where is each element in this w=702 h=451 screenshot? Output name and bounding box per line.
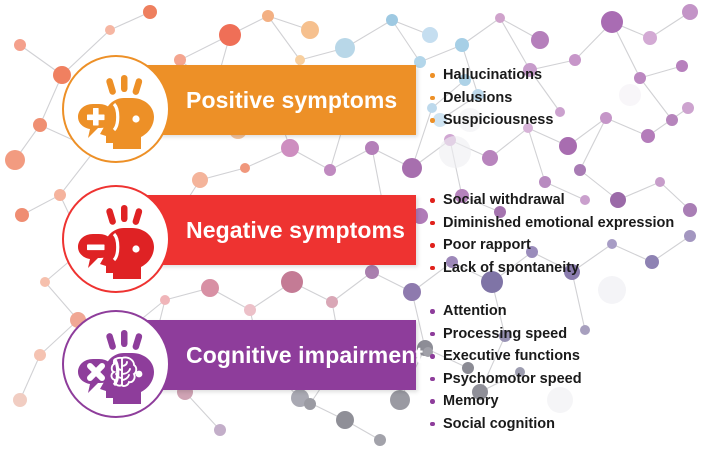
- icon-medallion-negative[interactable]: [62, 185, 170, 293]
- list-item: Social withdrawal: [430, 189, 674, 212]
- head-minus-speech-bubble-icon: [64, 187, 172, 295]
- list-item: Hallucinations: [430, 64, 553, 87]
- category-row-cognitive: Cognitive impairment: [0, 310, 702, 420]
- icon-medallion-positive[interactable]: [62, 55, 170, 163]
- category-label-cognitive: Cognitive impairment: [186, 320, 423, 390]
- list-item: Memory: [430, 390, 582, 413]
- list-item: Social cognition: [430, 413, 582, 436]
- category-label-negative: Negative symptoms: [186, 195, 405, 265]
- icon-medallion-cognitive[interactable]: [62, 310, 170, 418]
- list-item: Lack of spontaneity: [430, 257, 674, 280]
- category-row-positive: Positive symptoms: [0, 55, 702, 165]
- list-item: Executive functions: [430, 345, 582, 368]
- bullet-list-negative: Social withdrawal Diminished emotional e…: [430, 189, 674, 279]
- bullet-list-cognitive: Attention Processing speed Executive fun…: [430, 300, 582, 435]
- list-item: Suspiciousness: [430, 109, 553, 132]
- list-item: Psychomotor speed: [430, 368, 582, 391]
- list-item: Diminished emotional expression: [430, 212, 674, 235]
- infographic-canvas: Positive symptoms: [0, 0, 702, 451]
- bullet-list-positive: Hallucinations Delusions Suspiciousness: [430, 64, 553, 132]
- list-item: Processing speed: [430, 323, 582, 346]
- list-item: Delusions: [430, 87, 553, 110]
- category-label-positive: Positive symptoms: [186, 65, 397, 135]
- list-item: Attention: [430, 300, 582, 323]
- head-plus-speech-bubble-icon: [64, 57, 172, 165]
- head-brain-cross-speech-bubble-icon: [64, 312, 172, 420]
- list-item: Poor rapport: [430, 234, 674, 257]
